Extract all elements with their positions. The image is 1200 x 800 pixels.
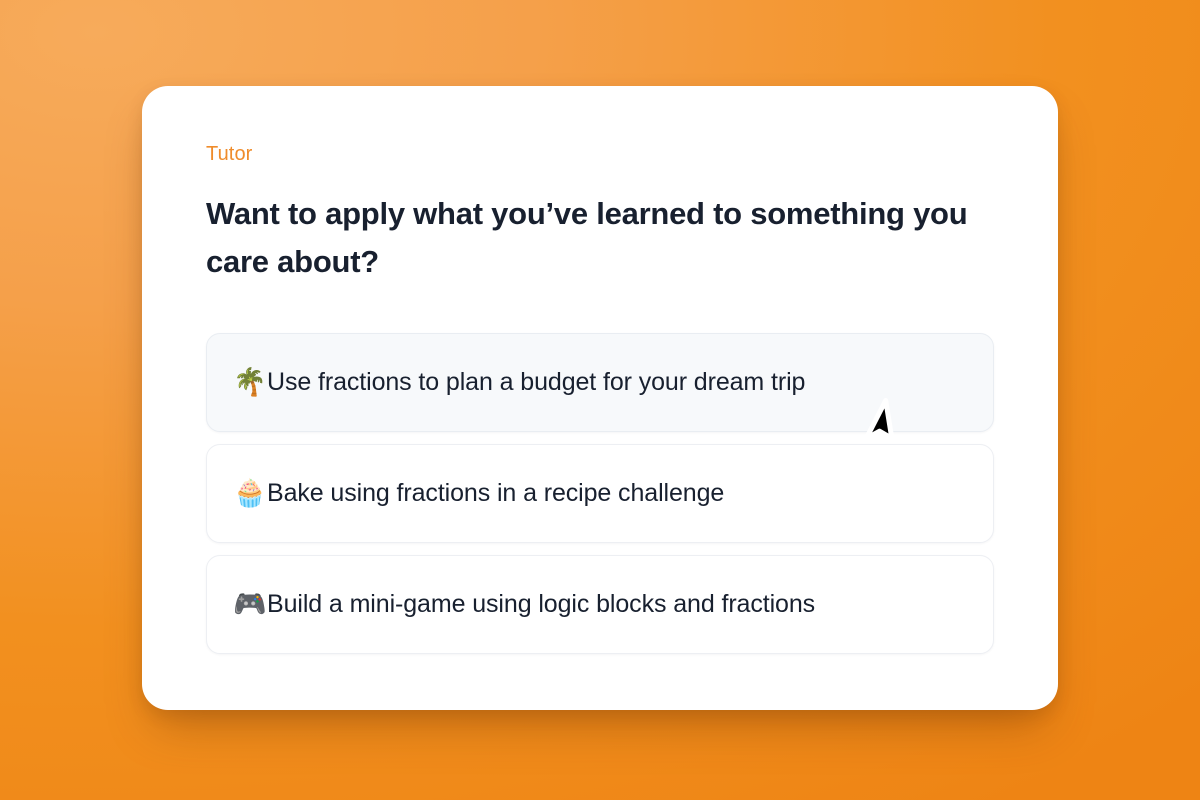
suggestion-option-label: Use fractions to plan a budget for your … [267, 367, 805, 398]
tutor-suggestion-card: Tutor Want to apply what you’ve learned … [142, 86, 1058, 710]
screen-background: Tutor Want to apply what you’ve learned … [0, 0, 1200, 800]
page-title: Want to apply what you’ve learned to som… [206, 190, 994, 286]
suggestion-option-list: 🌴 Use fractions to plan a budget for you… [206, 333, 994, 654]
cupcake-icon: 🧁 [233, 480, 267, 507]
suggestion-option-mini-game[interactable]: 🎮 Build a mini-game using logic blocks a… [206, 555, 994, 654]
suggestion-option-label: Build a mini-game using logic blocks and… [267, 589, 815, 620]
suggestion-option-label: Bake using fractions in a recipe challen… [267, 478, 724, 509]
suggestion-option-dream-trip[interactable]: 🌴 Use fractions to plan a budget for you… [206, 333, 994, 432]
suggestion-option-recipe-challenge[interactable]: 🧁 Bake using fractions in a recipe chall… [206, 444, 994, 543]
game-controller-icon: 🎮 [233, 591, 267, 618]
palm-tree-icon: 🌴 [233, 369, 267, 396]
speaker-label-tutor: Tutor [206, 144, 994, 164]
